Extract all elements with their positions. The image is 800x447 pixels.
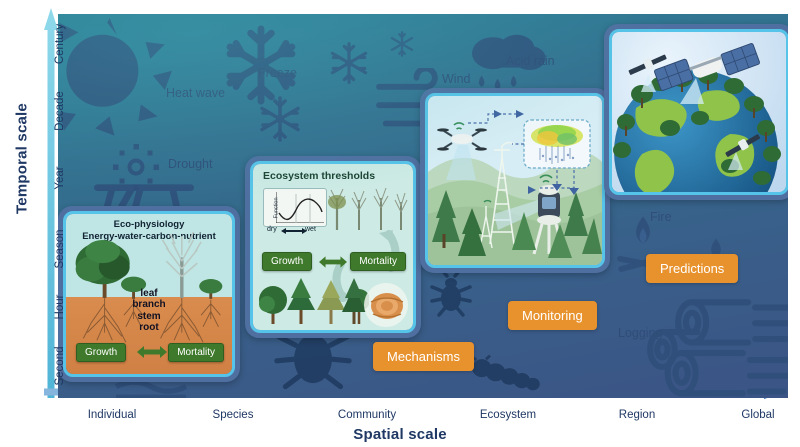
xtick-ecosystem: Ecosystem <box>480 409 536 421</box>
thresholds-title: Ecosystem thresholds <box>263 170 375 182</box>
logging-label: Logging <box>618 326 663 340</box>
mortality-button[interactable]: Mortality <box>168 343 224 362</box>
plot-area: Heat wave <box>58 14 788 398</box>
growth-button[interactable]: Growth <box>76 343 126 362</box>
drought-label: Drought <box>168 157 212 171</box>
panel-predictions[interactable] <box>604 24 788 200</box>
predictions-illustration <box>612 32 786 192</box>
tree-ring-icon <box>363 282 409 328</box>
fire-label: Fire <box>650 210 672 224</box>
y-axis-title: Temporal scale <box>14 79 31 239</box>
xtick-individual: Individual <box>88 409 137 421</box>
figure-root: Heat wave <box>0 0 800 447</box>
panel-monitoring[interactable] <box>420 88 610 273</box>
panel-ecosystem-thresholds[interactable]: Ecosystem thresholds Function dry wet <box>245 156 421 338</box>
chip-predictions[interactable]: Predictions <box>646 254 738 283</box>
stressed-trees <box>325 184 411 232</box>
xtick-region: Region <box>619 409 655 421</box>
beetle-icon <box>426 268 476 318</box>
sigmoid-curve <box>276 192 324 223</box>
caterpillar-icon <box>468 352 544 394</box>
thresholds-growth-button[interactable]: Growth <box>262 252 312 271</box>
logs-icon <box>646 290 788 398</box>
double-arrow-icon <box>319 255 347 269</box>
acid-rain-label: Acid rain <box>506 54 555 68</box>
dry-wet-arrow-icon <box>281 227 307 235</box>
freeze-label: Freeze <box>258 66 297 80</box>
sun-icon <box>58 18 172 138</box>
x-axis-title: Spatial scale <box>0 426 800 443</box>
ytick-season: Season <box>54 209 66 289</box>
double-arrow-icon <box>137 345 167 359</box>
heat-wave-label: Heat wave <box>166 86 225 100</box>
xtick-species: Species <box>213 409 254 421</box>
snowflake-icon <box>388 30 416 58</box>
xtick-community: Community <box>338 409 396 421</box>
inset-dry-label: dry <box>267 226 277 233</box>
snowflake-icon <box>255 94 305 144</box>
thresholds-mortality-button[interactable]: Mortality <box>350 252 406 271</box>
monitoring-illustration <box>428 96 602 265</box>
point-cloud-icon <box>524 120 590 168</box>
panel-ecophysiology[interactable]: Eco-physiology Energy-water-carbon-nutri… <box>58 206 240 382</box>
snowflake-icon <box>326 40 372 86</box>
ytick-century: Century <box>54 4 66 84</box>
threshold-function-inset: Function <box>263 188 327 227</box>
chip-monitoring[interactable]: Monitoring <box>508 301 597 330</box>
dead-shrub <box>199 279 222 299</box>
dead-tree <box>163 232 202 298</box>
plant-parts-list: leaf branch stem root <box>132 288 165 334</box>
chip-mechanisms[interactable]: Mechanisms <box>373 342 474 371</box>
xtick-global: Global <box>741 409 774 421</box>
